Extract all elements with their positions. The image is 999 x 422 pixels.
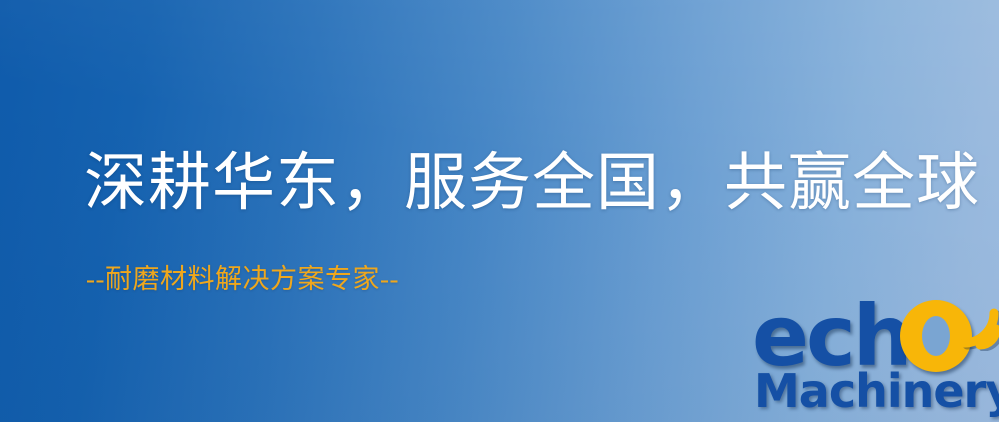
logo-wordmark-top: ech <box>752 298 910 372</box>
company-logo[interactable]: ech Machinery ® <box>752 298 999 422</box>
logo-o-counter <box>922 316 950 356</box>
hero-banner: 深耕华东，服务全国，共赢全球 --耐磨材料解决方案专家-- ech Machin… <box>0 0 999 422</box>
banner-headline: 深耕华东，服务全国，共赢全球 <box>84 152 980 215</box>
echo-wave-icon <box>958 293 999 351</box>
logo-text-machinery: Machinery <box>754 368 999 414</box>
logo-wordmark-bottom: Machinery ® <box>754 368 999 414</box>
banner-subtitle: --耐磨材料解决方案专家-- <box>86 266 399 293</box>
